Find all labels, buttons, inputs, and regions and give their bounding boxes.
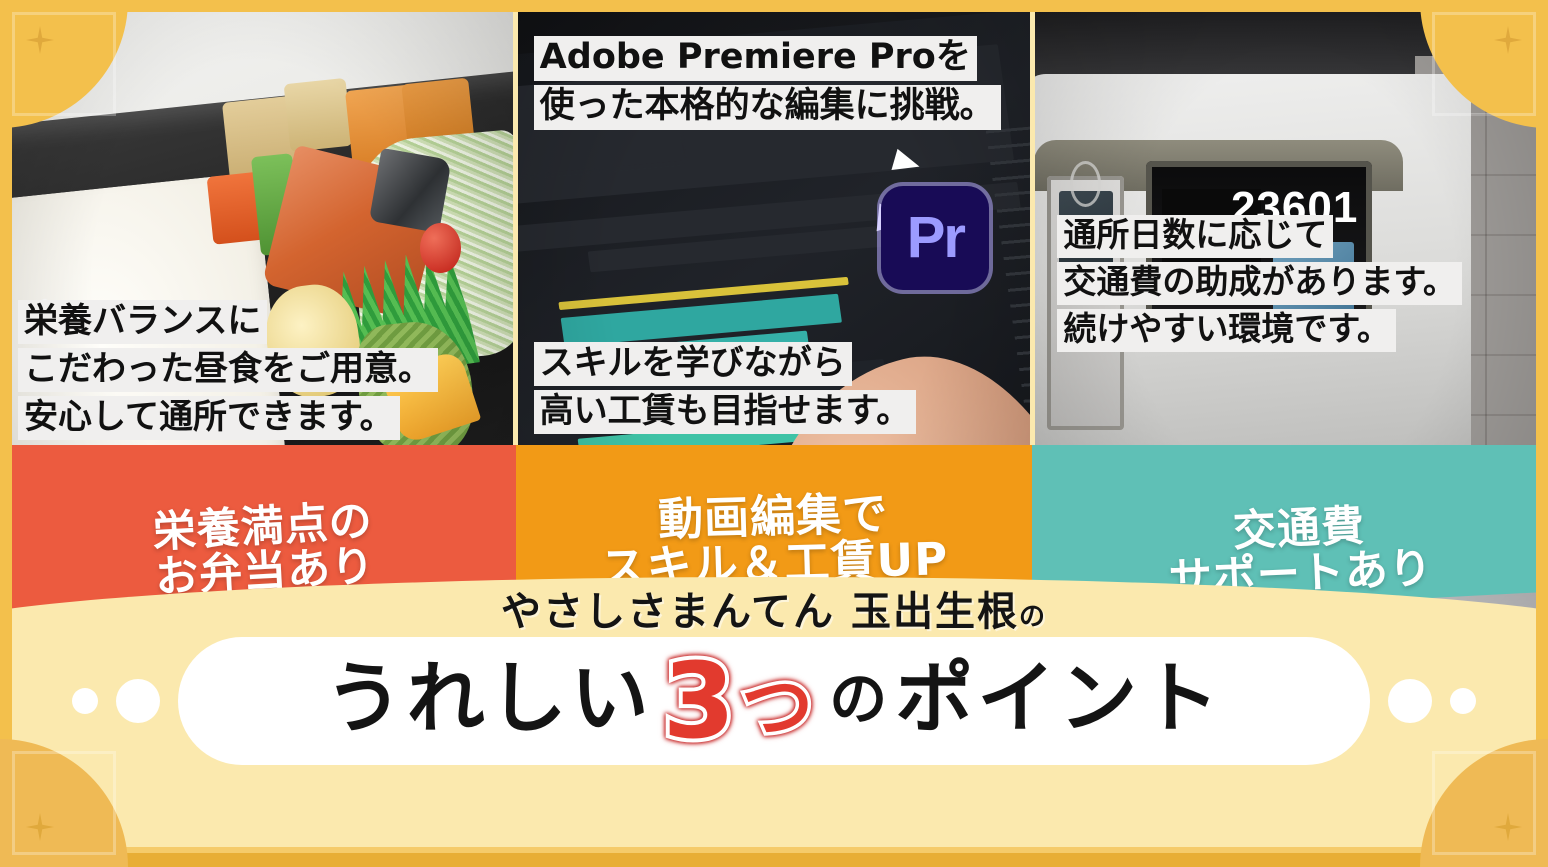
caption-line: 栄養バランスに: [18, 300, 267, 344]
caption-line: 続けやすい環境です。: [1057, 309, 1396, 352]
footer-subtitle-suffix: の: [1019, 602, 1047, 632]
footer-subtitle: やさしさまんてん 玉出生根の: [0, 579, 1548, 637]
caption-line: スキルを学びながら: [534, 342, 852, 386]
main-title-prefix: うれしい: [325, 660, 653, 738]
footer-band: やさしさまんてん 玉出生根の うれしい3つのポイント: [0, 567, 1548, 867]
footer-subtitle-main: やさしさまんてん 玉出生根: [501, 589, 1019, 635]
premiere-pro-logo-text: Pr: [907, 209, 964, 267]
main-title: うれしい3つのポイント: [325, 647, 1223, 751]
caption-line: こだわった昼食をご用意。: [18, 348, 438, 392]
main-title-counter: つ: [741, 671, 817, 743]
caption-line: Adobe Premiere Proを: [534, 36, 977, 81]
decor-dot-medium-left: [116, 679, 160, 723]
caption-line: 使った本格的な編集に挑戦。: [534, 85, 1001, 130]
caption-line: 高い工賃も目指せます。: [534, 390, 917, 434]
panel-video-captions-top: Adobe Premiere Proを 使った本格的な編集に挑戦。: [534, 36, 1001, 134]
poster-canvas: 栄養バランスに こだわった昼食をご用意。 安心して通所できます。: [0, 0, 1548, 867]
main-title-number: 3: [663, 649, 739, 753]
caption-line: 安心して通所できます。: [18, 396, 400, 440]
panel-video-captions-bottom: スキルを学びながら 高い工賃も目指せます。: [534, 342, 917, 438]
panel-bento-captions: 栄養バランスに こだわった昼食をご用意。 安心して通所できます。: [18, 300, 438, 444]
caption-line: 通所日数に応じて: [1057, 215, 1333, 258]
panel-transport-captions: 通所日数に応じて 交通費の助成があります。 続けやすい環境です。: [1057, 215, 1462, 356]
caption-line: 交通費の助成があります。: [1057, 262, 1462, 305]
main-title-suffix: ポイント: [895, 660, 1223, 738]
main-title-pill: うれしい3つのポイント: [178, 637, 1370, 765]
decor-dot-small-right: [1450, 688, 1476, 714]
adobe-premiere-pro-logo: Pr: [881, 186, 989, 290]
main-title-no: の: [829, 670, 891, 728]
title-pill-row: うれしい3つのポイント: [0, 637, 1548, 765]
decor-dot-medium-right: [1388, 679, 1432, 723]
decor-dot-small-left: [72, 688, 98, 714]
